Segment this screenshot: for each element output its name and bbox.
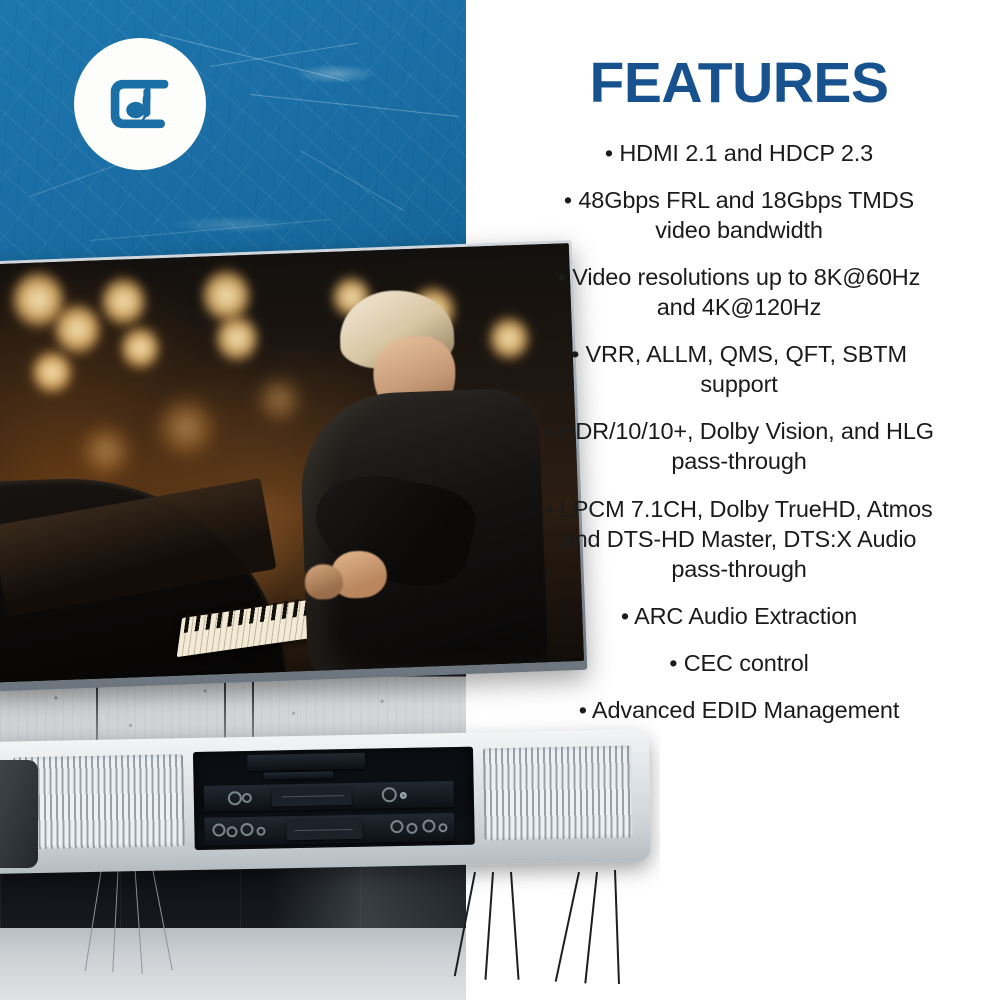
console-leg [510, 872, 519, 980]
texture-scratch [210, 43, 358, 67]
feature-item: • CEC control [542, 648, 936, 678]
feature-item: • Video resolutions up to 8K@60Hz and 4K… [542, 262, 936, 322]
page-title: FEATURES [542, 54, 936, 114]
av-indicator [400, 792, 407, 799]
marketing-slide: FEATURES • HDMI 2.1 and HDCP 2.3 • 48Gbp… [0, 0, 1000, 1000]
brand-logo-badge [74, 38, 206, 170]
feature-list: • HDMI 2.1 and HDCP 2.3 • 48Gbps FRL and… [542, 138, 936, 725]
feature-item: • Advanced EDID Management [542, 695, 936, 725]
pianist-figure [261, 269, 548, 672]
tv-screen [0, 243, 584, 682]
av-cabinet [193, 747, 475, 850]
texture-scratch [90, 219, 329, 241]
feature-item: • ARC Audio Extraction [542, 601, 936, 631]
feature-item: • 48Gbps FRL and 18Gbps TMDS video bandw… [542, 185, 936, 245]
blue-brand-panel [0, 0, 466, 264]
screen-music-note-icon [97, 61, 183, 147]
feature-item: • HDR/10/10+, Dolby Vision, and HLG pass… [542, 416, 936, 476]
tv-bezel [0, 240, 587, 692]
feature-item: • HDMI 2.1 and HDCP 2.3 [542, 138, 936, 168]
feature-item: • VRR, ALLM, QMS, QFT, SBTM support [542, 339, 936, 399]
pianist-hand [304, 564, 344, 601]
television [0, 240, 587, 692]
floor [0, 928, 466, 1000]
features-text-column: FEATURES • HDMI 2.1 and HDCP 2.3 • 48Gbp… [530, 0, 1000, 1000]
console-speaker-grille [13, 754, 185, 849]
texture-scratch [250, 94, 459, 117]
floor-speaker [0, 760, 38, 868]
bokeh-light [215, 313, 259, 363]
console-leg [484, 872, 493, 980]
feature-item: • LPCM 7.1CH, Dolby TrueHD, Atmos and DT… [542, 494, 936, 584]
texture-scratch [300, 150, 404, 211]
av-device [263, 771, 333, 779]
av-device [247, 753, 365, 771]
